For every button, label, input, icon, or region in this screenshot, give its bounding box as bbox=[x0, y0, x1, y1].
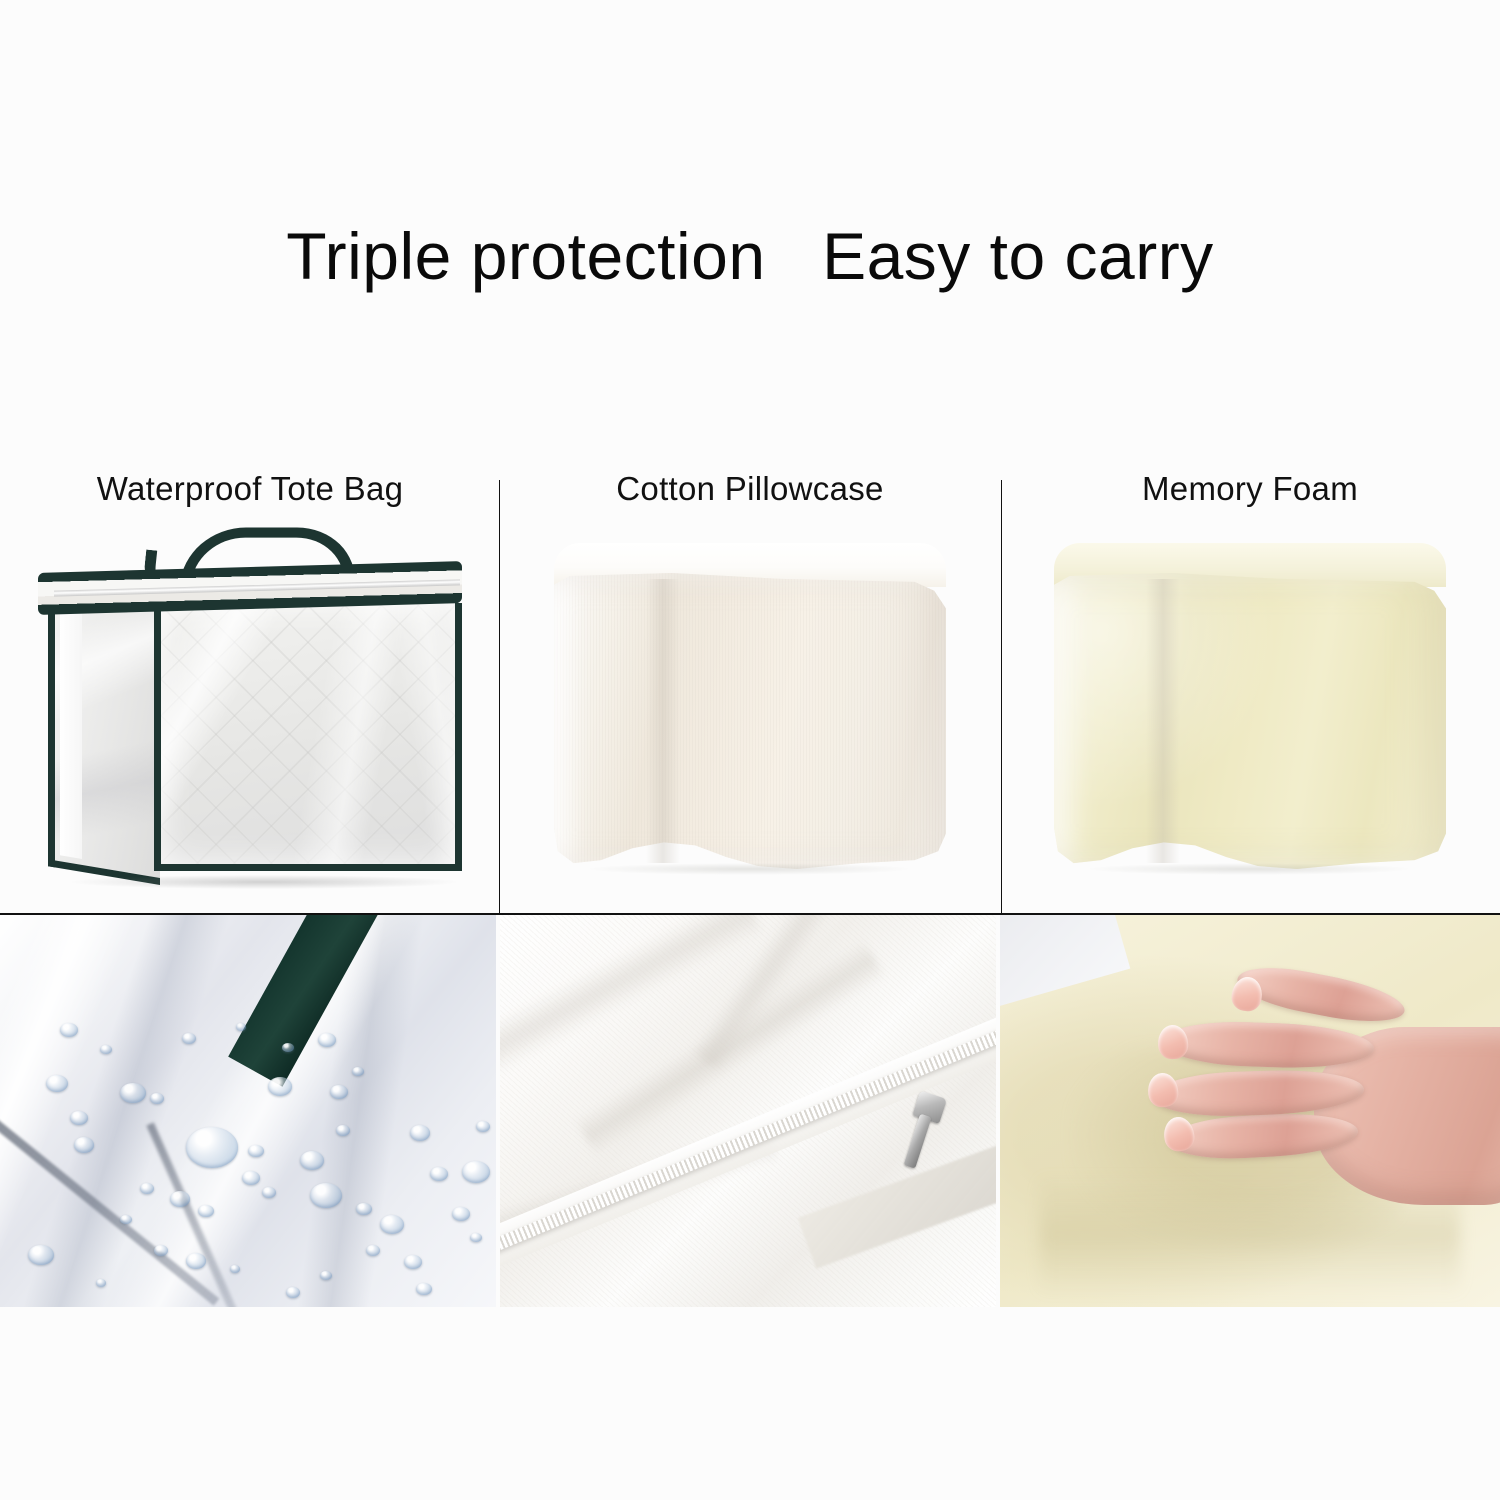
cotton-pillowcase-icon bbox=[554, 543, 946, 869]
water-droplet bbox=[96, 1279, 106, 1287]
water-droplet bbox=[318, 1033, 336, 1047]
page-title: Triple protection Easy to carry bbox=[0, 222, 1500, 291]
pillowcase-body bbox=[554, 573, 946, 869]
water-droplet bbox=[60, 1023, 78, 1037]
feature-column-tote-bag: Waterproof Tote Bag bbox=[0, 455, 500, 913]
tote-side-clear-strip bbox=[60, 596, 82, 859]
water-droplet bbox=[242, 1171, 260, 1185]
feature-column-memory-foam: Memory Foam bbox=[1000, 455, 1500, 913]
water-droplet bbox=[230, 1265, 240, 1273]
feature-label-memory-foam: Memory Foam bbox=[1000, 470, 1500, 508]
water-droplet bbox=[182, 1033, 196, 1044]
water-droplet bbox=[262, 1187, 276, 1198]
water-droplet bbox=[186, 1253, 206, 1269]
memory-foam-icon bbox=[1054, 543, 1446, 869]
tote-drop-shadow bbox=[72, 875, 456, 889]
water-droplet bbox=[462, 1161, 490, 1183]
foam-body bbox=[1054, 573, 1446, 869]
product-stage-memory-foam bbox=[1000, 515, 1500, 913]
water-droplet bbox=[410, 1125, 430, 1141]
foam-edge-shading bbox=[1054, 573, 1446, 869]
tote-side-panel bbox=[48, 588, 160, 885]
feature-label-tote-bag: Waterproof Tote Bag bbox=[0, 470, 500, 508]
water-droplet bbox=[380, 1215, 404, 1234]
product-stage-pillowcase bbox=[500, 515, 1000, 913]
feature-grid: Waterproof Tote Bag Cotton Pillowcase bbox=[0, 455, 1500, 913]
water-droplet bbox=[476, 1121, 490, 1132]
product-stage-tote-bag bbox=[0, 515, 500, 913]
finger-middle bbox=[1161, 1019, 1374, 1070]
water-droplet bbox=[236, 1023, 246, 1031]
foam-drop-shadow bbox=[1084, 863, 1414, 875]
pillowcase-edge-shading bbox=[554, 573, 946, 869]
water-droplet bbox=[74, 1137, 94, 1153]
water-droplet bbox=[286, 1287, 300, 1298]
water-droplet bbox=[140, 1183, 154, 1194]
water-droplet bbox=[46, 1075, 68, 1092]
hand-icon bbox=[1128, 963, 1500, 1263]
detail-photo-waterproof bbox=[0, 915, 496, 1307]
detail-photo-row bbox=[0, 915, 1500, 1307]
detail-photo-cotton-zipper bbox=[500, 915, 996, 1307]
detail-photo-foam-press bbox=[1000, 915, 1500, 1307]
water-droplet bbox=[70, 1111, 88, 1125]
tote-bag-icon bbox=[32, 523, 472, 893]
water-droplet bbox=[150, 1093, 164, 1104]
tote-front-gloss bbox=[161, 603, 455, 864]
water-droplet bbox=[330, 1085, 348, 1099]
foam-corner-crease bbox=[1146, 579, 1180, 863]
tote-front-panel bbox=[154, 603, 462, 871]
pillowcase-drop-shadow bbox=[584, 863, 914, 875]
water-droplet bbox=[300, 1151, 324, 1170]
feature-column-pillowcase: Cotton Pillowcase bbox=[500, 455, 1000, 913]
water-droplet bbox=[186, 1127, 238, 1168]
water-droplet bbox=[430, 1167, 448, 1181]
water-droplet bbox=[268, 1077, 292, 1096]
zipper-pull-tab bbox=[904, 1114, 932, 1169]
water-droplet bbox=[170, 1191, 190, 1207]
water-droplet bbox=[404, 1255, 422, 1269]
water-droplet bbox=[336, 1125, 350, 1136]
water-droplet bbox=[154, 1245, 168, 1256]
water-droplet bbox=[366, 1245, 380, 1256]
feature-label-pillowcase: Cotton Pillowcase bbox=[500, 470, 1000, 508]
pillowcase-corner-crease bbox=[646, 579, 680, 863]
water-droplet bbox=[310, 1183, 342, 1208]
water-droplet bbox=[452, 1207, 470, 1221]
